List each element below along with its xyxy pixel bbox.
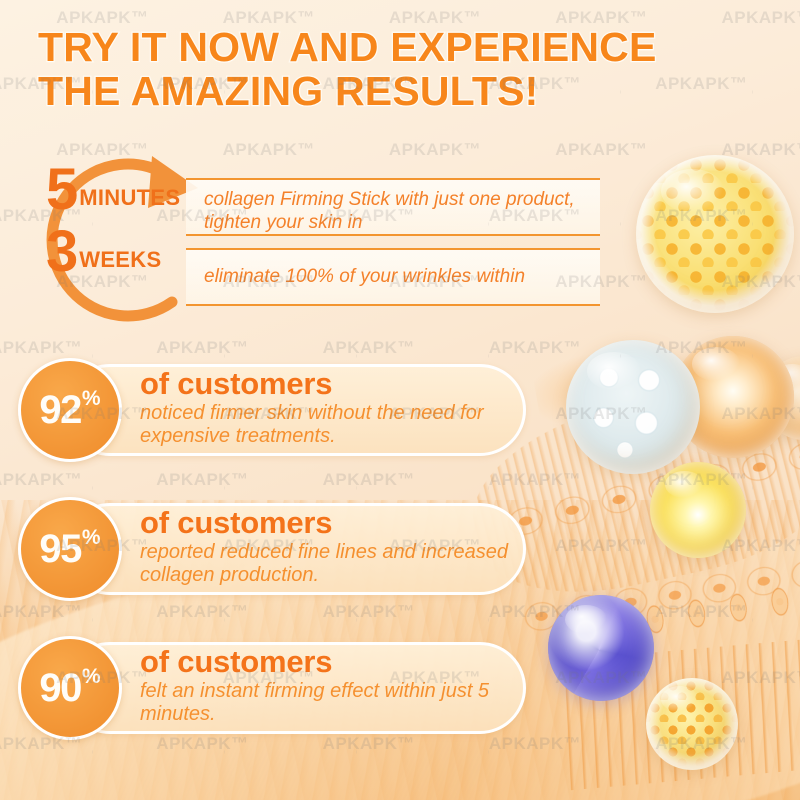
stat-badge-90: 90 % xyxy=(18,636,122,740)
timeline-unit-2: WEEKS xyxy=(79,247,161,278)
blue-swirl-sphere xyxy=(548,595,654,701)
stat-title: of customers xyxy=(140,368,520,401)
stat-percent-value: 95 xyxy=(39,529,81,569)
stat-title: of customers xyxy=(140,646,520,679)
headline-line-1: TRY IT NOW AND EXPERIENCE xyxy=(38,26,758,70)
advertisement-canvas: TRY IT NOW AND EXPERIENCE THE AMAZING RE… xyxy=(0,0,800,800)
timeline-unit-1: MINUTES xyxy=(79,185,180,216)
watermark-text: APKAPK™APKAPK™APKAPK™APKAPK™APKAPK™APKAP… xyxy=(0,338,800,358)
honeycomb-sphere-large xyxy=(636,155,794,313)
stat-text: of customers reported reduced fine lines… xyxy=(140,507,520,588)
stat-description: felt an instant firming effect within ju… xyxy=(140,680,520,727)
percent-symbol-icon: % xyxy=(82,665,101,689)
stat-text: of customers noticed firmer skin without… xyxy=(140,368,520,449)
stat-row-92: 92 % of customers noticed firmer skin wi… xyxy=(18,358,526,462)
stat-row-95: 95 % of customers reported reduced fine … xyxy=(18,497,526,601)
percent-symbol-icon: % xyxy=(82,387,101,411)
stat-badge-95: 95 % xyxy=(18,497,122,601)
timeline-copy-panel-2: eliminate 100% of your wrinkles within xyxy=(186,248,600,306)
percent-symbol-icon: % xyxy=(82,526,101,550)
stat-description: noticed firmer skin without the need for… xyxy=(140,402,520,449)
stat-text: of customers felt an instant firming eff… xyxy=(140,646,520,727)
timeline-number-1: 5 xyxy=(46,163,77,216)
honeycomb-sphere-small xyxy=(646,678,738,770)
headline-line-2: THE AMAZING RESULTS! xyxy=(38,70,758,114)
clear-bubble-cluster-sphere xyxy=(566,340,700,474)
stat-percent-value: 92 xyxy=(39,390,81,430)
stat-description: reported reduced fine lines and increase… xyxy=(140,541,520,588)
headline: TRY IT NOW AND EXPERIENCE THE AMAZING RE… xyxy=(38,26,758,114)
stat-title: of customers xyxy=(140,507,520,540)
stat-badge-92: 92 % xyxy=(18,358,122,462)
watermark-text: APKAPK™APKAPK™APKAPK™APKAPK™APKAPK™APKAP… xyxy=(0,602,800,622)
stat-row-90: 90 % of customers felt an instant firmin… xyxy=(18,636,526,740)
stat-percent-value: 90 xyxy=(39,668,81,708)
timeline-copy-panel-1: collagen Firming Stick with just one pro… xyxy=(186,178,600,236)
yellow-serum-sphere xyxy=(650,462,746,558)
timeline-number-2: 3 xyxy=(46,225,77,278)
